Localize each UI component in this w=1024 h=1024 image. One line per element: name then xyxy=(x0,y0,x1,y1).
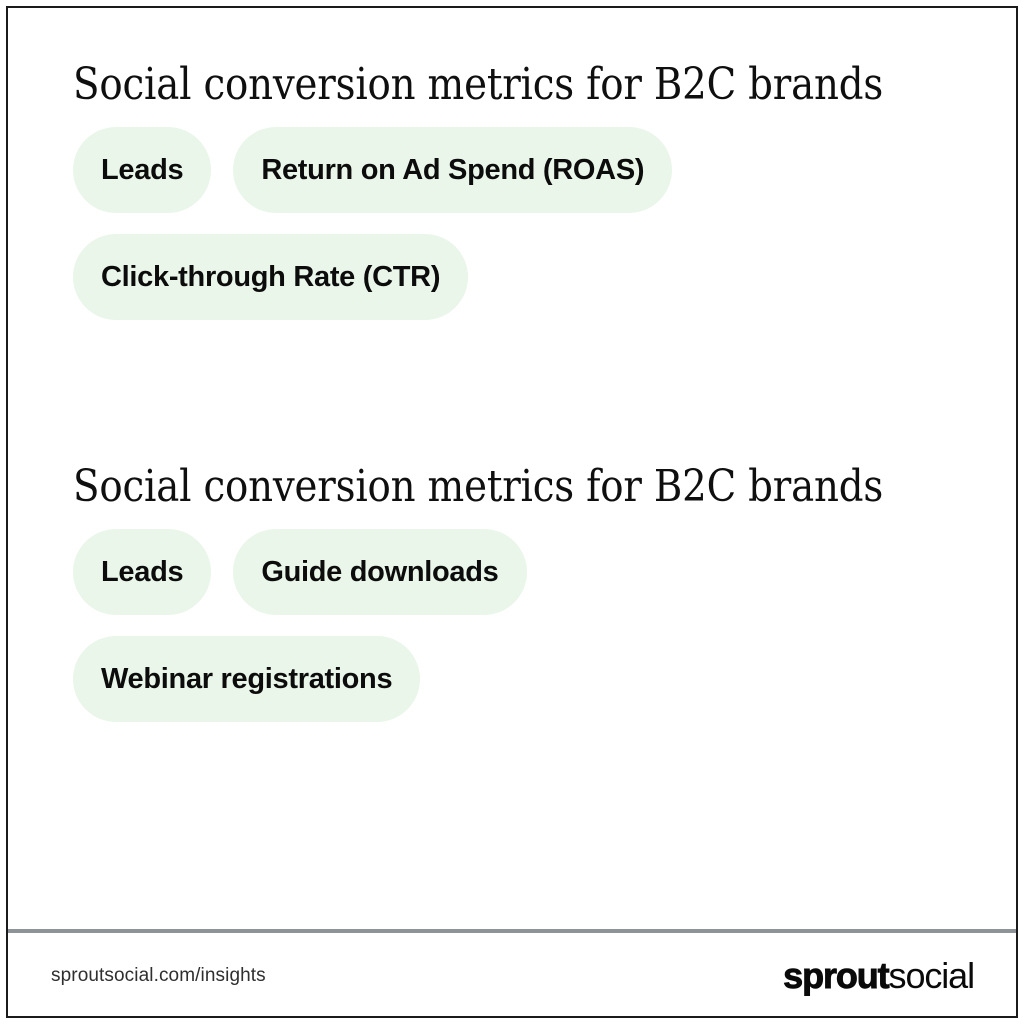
infographic-card: Social conversion metrics for B2C brands… xyxy=(0,0,1024,1024)
card-footer: sproutsocial.com/insights sproutsocial xyxy=(0,933,1024,1018)
metric-pill-roas[interactable]: Return on Ad Spend (ROAS) xyxy=(233,127,672,213)
section-2-pill-row-2: Webinar registrations xyxy=(73,636,964,722)
section-1-heading: Social conversion metrics for B2C brands xyxy=(73,56,857,114)
section-1-pill-row-2: Click-through Rate (CTR) xyxy=(73,234,964,320)
footer-url[interactable]: sproutsocial.com/insights xyxy=(51,965,266,987)
sprout-social-logo[interactable]: sproutsocial xyxy=(783,958,974,994)
section-2-pill-row-1: Leads Guide downloads xyxy=(73,529,964,615)
metrics-section-1: Social conversion metrics for B2C brands… xyxy=(73,56,964,320)
card-content: Social conversion metrics for B2C brands… xyxy=(0,0,1024,929)
metric-pill-leads[interactable]: Leads xyxy=(73,127,211,213)
section-2-heading: Social conversion metrics for B2C brands xyxy=(73,458,857,516)
logo-word-sprout: sprout xyxy=(783,958,888,994)
metrics-section-2: Social conversion metrics for B2C brands… xyxy=(73,458,964,722)
metric-pill-guide-downloads[interactable]: Guide downloads xyxy=(233,529,526,615)
section-1-pill-group: Leads Return on Ad Spend (ROAS) Click-th… xyxy=(73,127,964,320)
metric-pill-webinar-registrations[interactable]: Webinar registrations xyxy=(73,636,420,722)
section-1-pill-row-1: Leads Return on Ad Spend (ROAS) xyxy=(73,127,964,213)
metric-pill-ctr[interactable]: Click-through Rate (CTR) xyxy=(73,234,468,320)
metric-pill-leads-2[interactable]: Leads xyxy=(73,529,211,615)
logo-word-social: social xyxy=(889,958,974,994)
section-2-pill-group: Leads Guide downloads Webinar registrati… xyxy=(73,529,964,722)
